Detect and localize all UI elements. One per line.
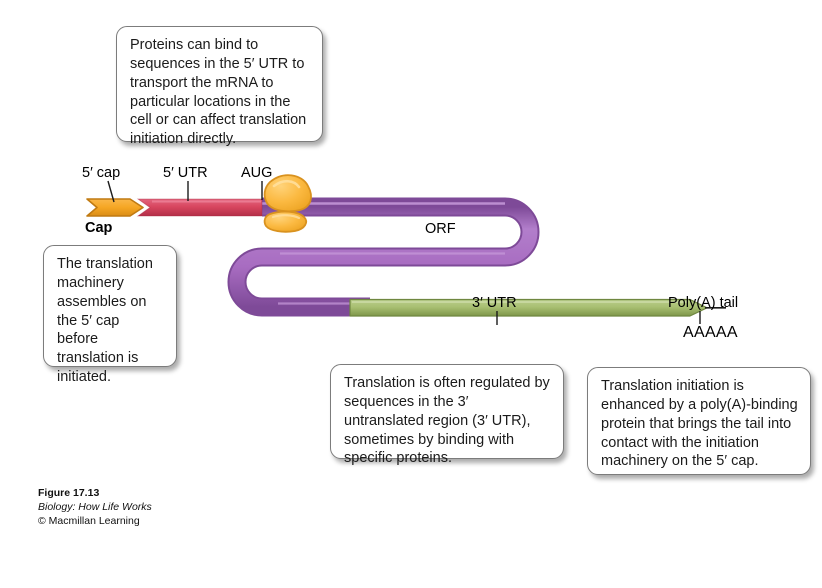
label-orf: ORF <box>425 221 456 237</box>
figure-source-title: Biology: How Life Works <box>38 501 152 515</box>
figure-copyright: © Macmillan Learning <box>38 515 152 529</box>
label-leader-lines <box>108 181 700 325</box>
callout-5prime-utr: Proteins can bind to sequences in the 5′… <box>116 26 323 142</box>
cap-5prime-shape <box>87 199 143 216</box>
label-polya-sequence: AAAAA <box>683 324 738 342</box>
label-3prime-utr: 3′ UTR <box>472 295 517 311</box>
orf-backbone <box>237 204 530 308</box>
figure-credit: Figure 17.13 Biology: How Life Works © M… <box>38 487 152 529</box>
utr-3prime-shape <box>350 300 707 317</box>
label-polya-tail: Poly(A) tail <box>668 295 738 311</box>
callout-polya-binding-protein: Translation initiation is enhanced by a … <box>587 367 811 475</box>
label-5prime-cap: 5′ cap <box>82 165 120 181</box>
figure-number: Figure 17.13 <box>38 487 152 501</box>
label-aug-start-codon: AUG <box>241 165 272 181</box>
ribosome-shape <box>265 175 311 232</box>
label-cap: Cap <box>85 220 112 236</box>
figure-container: 5′ cap 5′ UTR AUG Cap ORF 3′ UTR Poly(A)… <box>0 0 822 588</box>
callout-translation-machinery: The translation machinery assembles on t… <box>43 245 177 367</box>
label-5prime-utr: 5′ UTR <box>163 165 208 181</box>
utr-5prime-shape <box>138 199 262 216</box>
callout-3prime-utr-regulation: Translation is often regulated by sequen… <box>330 364 564 459</box>
